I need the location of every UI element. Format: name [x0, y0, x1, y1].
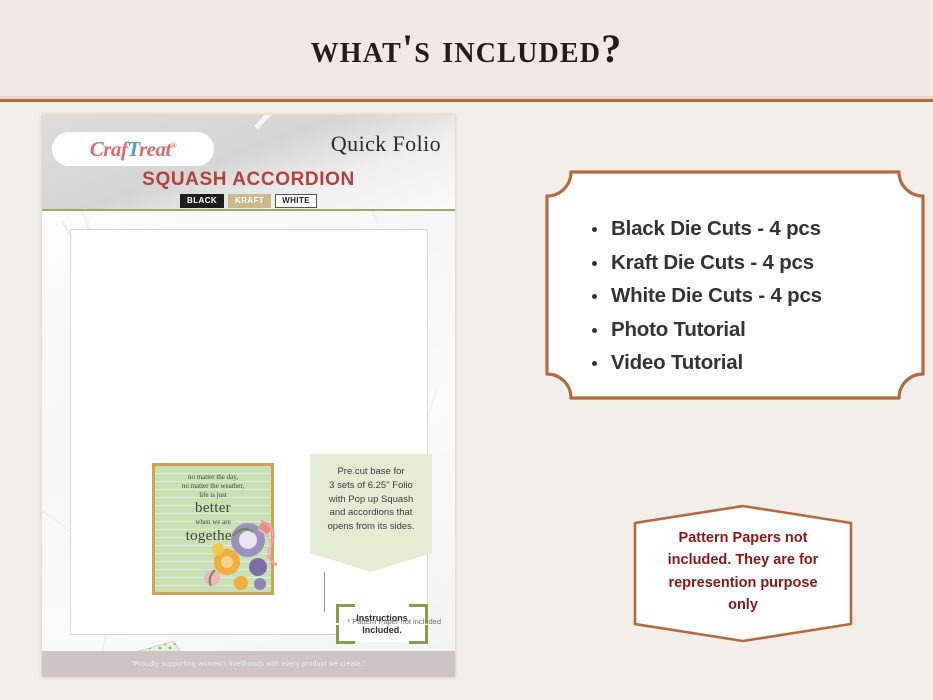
list-item: Photo Tutorial [589, 313, 919, 347]
included-items-list: Black Die Cuts - 4 pcs Kraft Die Cuts - … [589, 212, 919, 380]
list-item: Video Tutorial [589, 346, 919, 380]
page-title: What's Included? [311, 25, 623, 72]
product-image-card: CrafTreat® Quick Folio SQUASH ACCORDION … [42, 115, 455, 677]
product-card-footer: "Proudly supporting women's livelihoods … [42, 651, 455, 677]
included-items-panel: Black Die Cuts - 4 pcs Kraft Die Cuts - … [543, 168, 927, 402]
color-variant-badges: BLACK KRAFT WHITE [42, 194, 455, 208]
info-line-3: with Pop up Squash [316, 493, 426, 507]
product-photo-body: no matter the day, no matter the weather… [42, 211, 455, 677]
pattern-paper-note: * Pattern Paper not included [347, 617, 441, 626]
list-item: White Die Cuts - 4 pcs [589, 279, 919, 313]
product-banner: CrafTreat® Quick Folio SQUASH ACCORDION … [42, 115, 455, 211]
badge-kraft: KRAFT [228, 194, 271, 208]
quote-card-florals [155, 466, 271, 592]
ribbon-accent-icon [256, 511, 316, 571]
registered-mark-icon: ® [171, 141, 176, 150]
info-line-5: opens from its sides. [316, 520, 426, 534]
info-line-2: 3 sets of 6.25" Folio [316, 479, 426, 493]
brand-logo-text: CrafTreat® [90, 137, 177, 162]
badge-black: BLACK [180, 194, 224, 208]
disclaimer-text: Pattern Papers not included. They are fo… [652, 527, 834, 617]
list-item: Black Die Cuts - 4 pcs [589, 212, 919, 246]
info-callout-text: Pre cut base for 3 sets of 6.25" Folio w… [310, 454, 432, 534]
product-card-footer-text: "Proudly supporting women's livelihoods … [131, 661, 365, 668]
callout-pointer-line [324, 572, 325, 612]
info-callout-banner: Pre cut base for 3 sets of 6.25" Folio w… [310, 454, 432, 572]
logo-part-t: T [127, 137, 139, 161]
logo-part-reat: reat [139, 137, 171, 161]
list-item: Kraft Die Cuts - 4 pcs [589, 246, 919, 280]
brand-logo-plate: CrafTreat® [52, 132, 214, 166]
header-divider-copper [0, 99, 933, 102]
disclaimer-panel: Pattern Papers not included. They are fo… [632, 503, 854, 644]
logo-part-craf: Craf [90, 137, 128, 161]
product-name: SQUASH ACCORDION [42, 169, 455, 191]
info-line-1: Pre cut base for [316, 465, 426, 479]
info-line-4: and accordions that [316, 506, 426, 520]
badge-white: WHITE [275, 194, 317, 208]
page-header: What's Included? [0, 0, 933, 96]
quick-folio-label: Quick Folio [331, 131, 441, 157]
